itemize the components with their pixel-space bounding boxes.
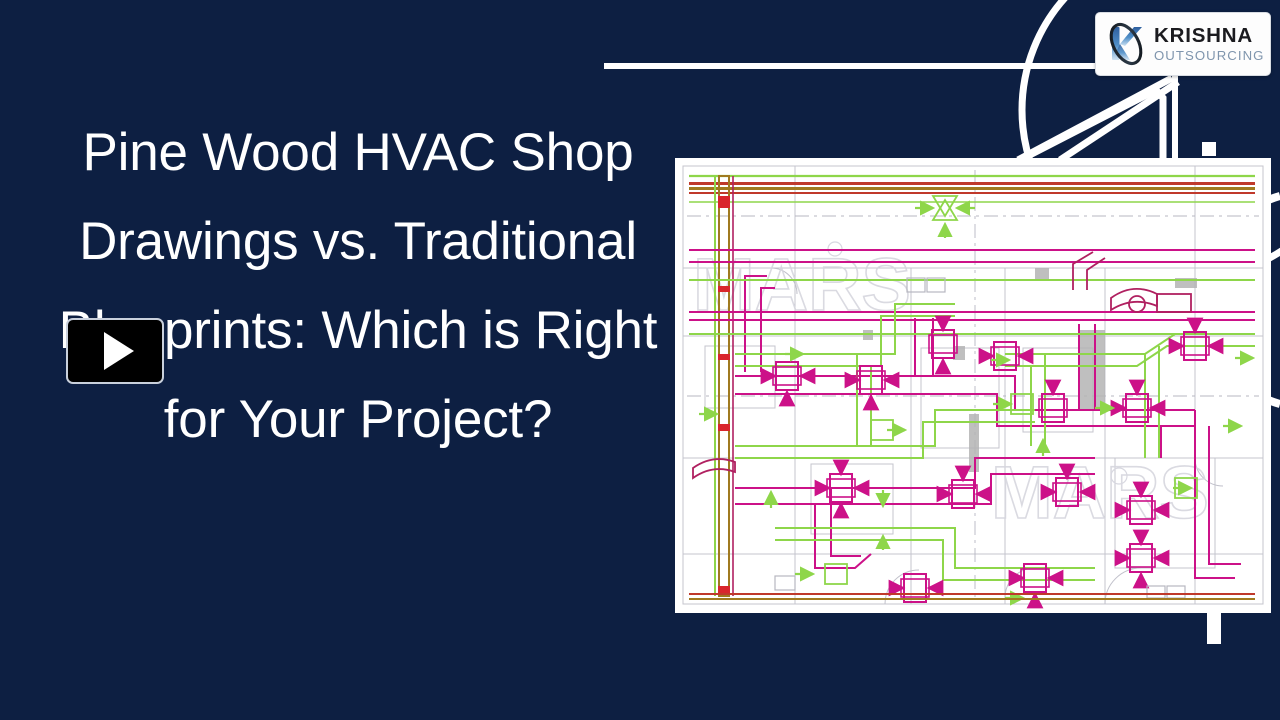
horizontal-rule [604,63,1180,69]
svg-text:MARS: MARS [693,243,911,326]
diagonal-line-long [1018,78,1172,160]
logo-primary-name: KRISHNA [1154,26,1264,47]
logo-secondary-name: OUTSOURCING [1154,49,1264,62]
play-triangle-icon [104,332,134,370]
diagonal-line-short [1020,90,1163,160]
logo-text-block: KRISHNA OUTSOURCING [1154,26,1264,62]
svg-text:MARS: MARS [991,451,1209,534]
presentation-slide: MARS MARS [0,0,1280,720]
vertical-connector [1172,68,1178,160]
hvac-shop-drawing-figure: MARS MARS [675,158,1271,613]
krishna-outsourcing-logo[interactable]: KRISHNA OUTSOURCING [1095,12,1271,76]
krishna-k-swoosh-icon [1103,20,1149,68]
hvac-drawing-svg: MARS MARS [675,158,1271,613]
slide-title: Pine Wood HVAC Shop Drawings vs. Traditi… [58,108,658,464]
play-button[interactable] [66,318,164,384]
small-white-square [1202,142,1216,156]
diagonal-line-cross [1060,82,1178,160]
